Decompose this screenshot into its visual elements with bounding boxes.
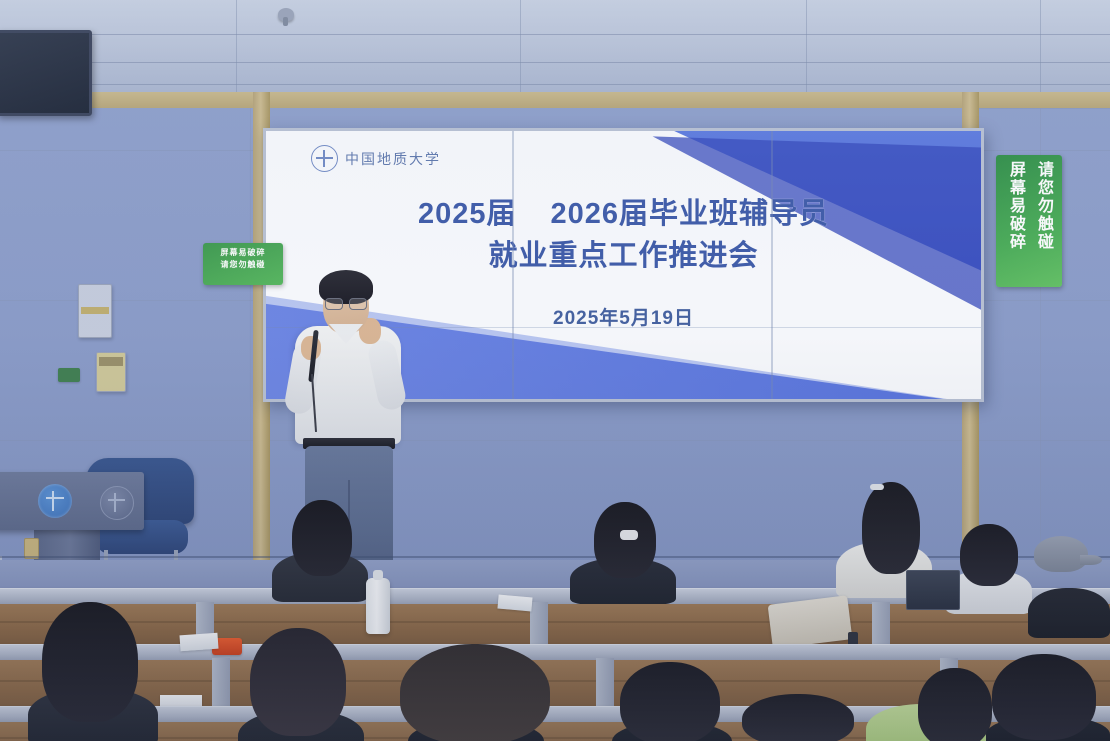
bench-leg — [872, 602, 890, 650]
slide-org-name: 中国地质大学 — [345, 149, 441, 169]
ceiling — [0, 0, 1110, 92]
wall-panel-seam — [0, 440, 1110, 441]
screen-panel-seam — [512, 131, 514, 399]
wall-panel-seam — [250, 108, 251, 560]
switch-rocker[interactable] — [99, 357, 123, 366]
attendee-front-far-right — [986, 654, 1110, 741]
wall-mounted-television — [0, 30, 92, 116]
slide-title-part2: 2026届毕业班辅导员 — [551, 198, 830, 230]
screen-warning-sign-left: 屏幕易破碎 请您勿触碰 — [203, 243, 283, 285]
glasses-lens-left — [325, 298, 343, 310]
attendee-hair — [594, 502, 656, 578]
attendee-front-left — [28, 602, 158, 741]
laptop[interactable] — [906, 570, 960, 610]
attendee-far-right — [1028, 560, 1110, 634]
wall-panel-seam — [978, 108, 1110, 109]
university-crest-grey — [100, 486, 134, 520]
lectern-top — [0, 472, 144, 530]
stage-edge — [0, 556, 1110, 558]
screen-warning-sign-right: 请您勿触碰 屏幕易破碎 — [996, 155, 1062, 287]
ceiling-tile-line — [0, 34, 1110, 35]
glasses-lens-right — [349, 298, 367, 310]
panel-label-strip — [81, 307, 109, 314]
attendee-front-center-left — [238, 628, 364, 741]
bench-wood-panel — [0, 604, 1110, 648]
presenter-glasses — [325, 298, 367, 308]
attendee-front-small — [742, 694, 854, 741]
hair-clip — [870, 484, 884, 490]
university-emblem-icon — [311, 145, 338, 172]
ceiling-tile-seam — [520, 0, 521, 92]
attendee-front-green — [866, 668, 986, 741]
warning-text-line-1: 屏幕易破碎 — [206, 247, 280, 259]
slide-org-logo: 中国地质大学 — [311, 145, 441, 172]
warning-text-column-2: 屏幕易破碎 — [1003, 161, 1027, 281]
lecture-hall-photo: 中国地质大学 2025届2026届毕业班辅导员 就业重点工作推进会 2025年5… — [0, 0, 1110, 741]
slide-title-line2: 就业重点工作推进会 — [488, 240, 758, 272]
attendee-hair — [620, 662, 720, 741]
ceiling-tile-seam — [806, 0, 807, 92]
ceiling-tile-seam — [1040, 0, 1041, 92]
water-bottle[interactable] — [366, 578, 390, 634]
safety-sticker — [58, 368, 80, 382]
ceiling-tile-line — [0, 62, 1110, 63]
attendee-front-right-center — [612, 662, 732, 741]
slide-title-part1: 2025届 — [418, 198, 517, 230]
ceiling-tile-line — [0, 84, 1110, 85]
attendee-back-center — [570, 502, 676, 598]
attendee-hair — [992, 654, 1096, 740]
attendee-hair — [862, 482, 920, 574]
screen-panel-seam — [771, 131, 773, 399]
attendee-hair — [960, 524, 1018, 586]
wall-access-panel — [78, 284, 112, 338]
attendee-front-center — [400, 644, 550, 741]
notebook-paper — [179, 633, 218, 652]
wall-light-switch[interactable] — [96, 352, 126, 392]
bench-leg — [530, 602, 548, 650]
attendee-back-left — [272, 500, 368, 596]
attendee-hair — [918, 668, 992, 741]
notebook-paper — [497, 595, 532, 612]
warning-text-line-2: 请您勿触碰 — [206, 259, 280, 271]
university-crest-blue — [38, 484, 72, 518]
attendee-hair — [400, 644, 550, 741]
attendee-hair — [250, 628, 346, 736]
attendee-torso — [1028, 588, 1110, 638]
wall-top-trim — [0, 92, 1110, 108]
warning-text-column-1: 请您勿触碰 — [1031, 161, 1055, 281]
attendee-hair — [742, 694, 854, 741]
attendee-hair — [42, 602, 138, 722]
ceiling-sprinkler — [278, 8, 294, 21]
hair-clip — [620, 530, 638, 540]
attendee-hair — [292, 500, 352, 576]
ceiling-tile-seam — [236, 0, 237, 92]
